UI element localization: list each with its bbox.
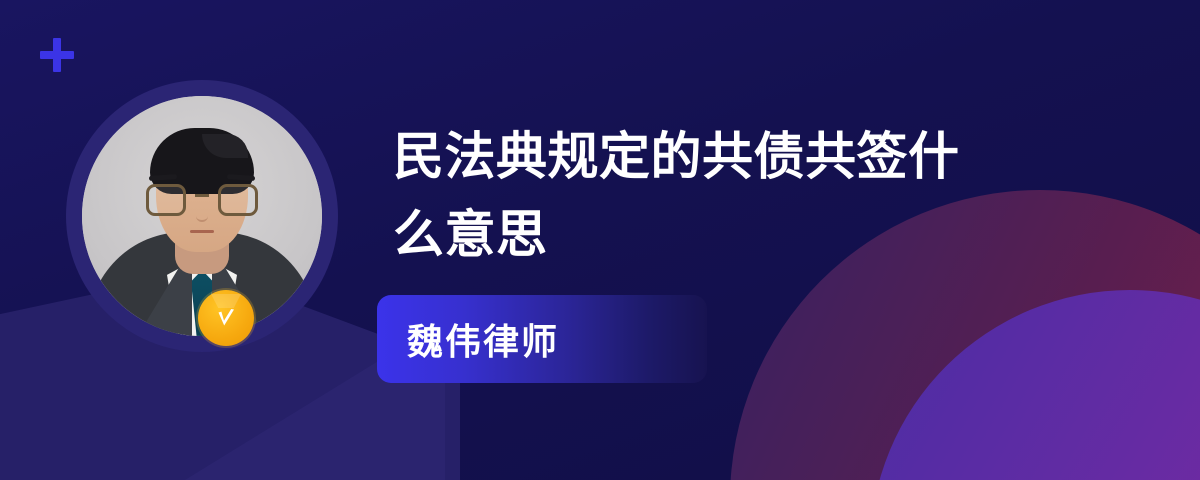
portrait-glasses-right xyxy=(218,184,258,216)
portrait-nose xyxy=(196,208,208,222)
plus-icon xyxy=(40,38,74,72)
lawyer-question-banner: 民法典规定的共债共签什 么意思 魏伟律师 xyxy=(0,0,1200,480)
portrait-glasses-bridge xyxy=(195,194,209,197)
portrait-glasses-left xyxy=(146,184,186,216)
portrait-mouth xyxy=(190,230,214,233)
headline-block: 民法典规定的共债共签什 么意思 xyxy=(393,118,1153,274)
lawyer-name-button[interactable]: 魏伟律师 xyxy=(377,295,707,383)
verified-badge-icon xyxy=(198,290,254,346)
avatar-photo xyxy=(82,96,322,336)
page-title: 民法典规定的共债共签什 么意思 xyxy=(393,118,1153,274)
badge-check-glyph xyxy=(211,303,241,333)
